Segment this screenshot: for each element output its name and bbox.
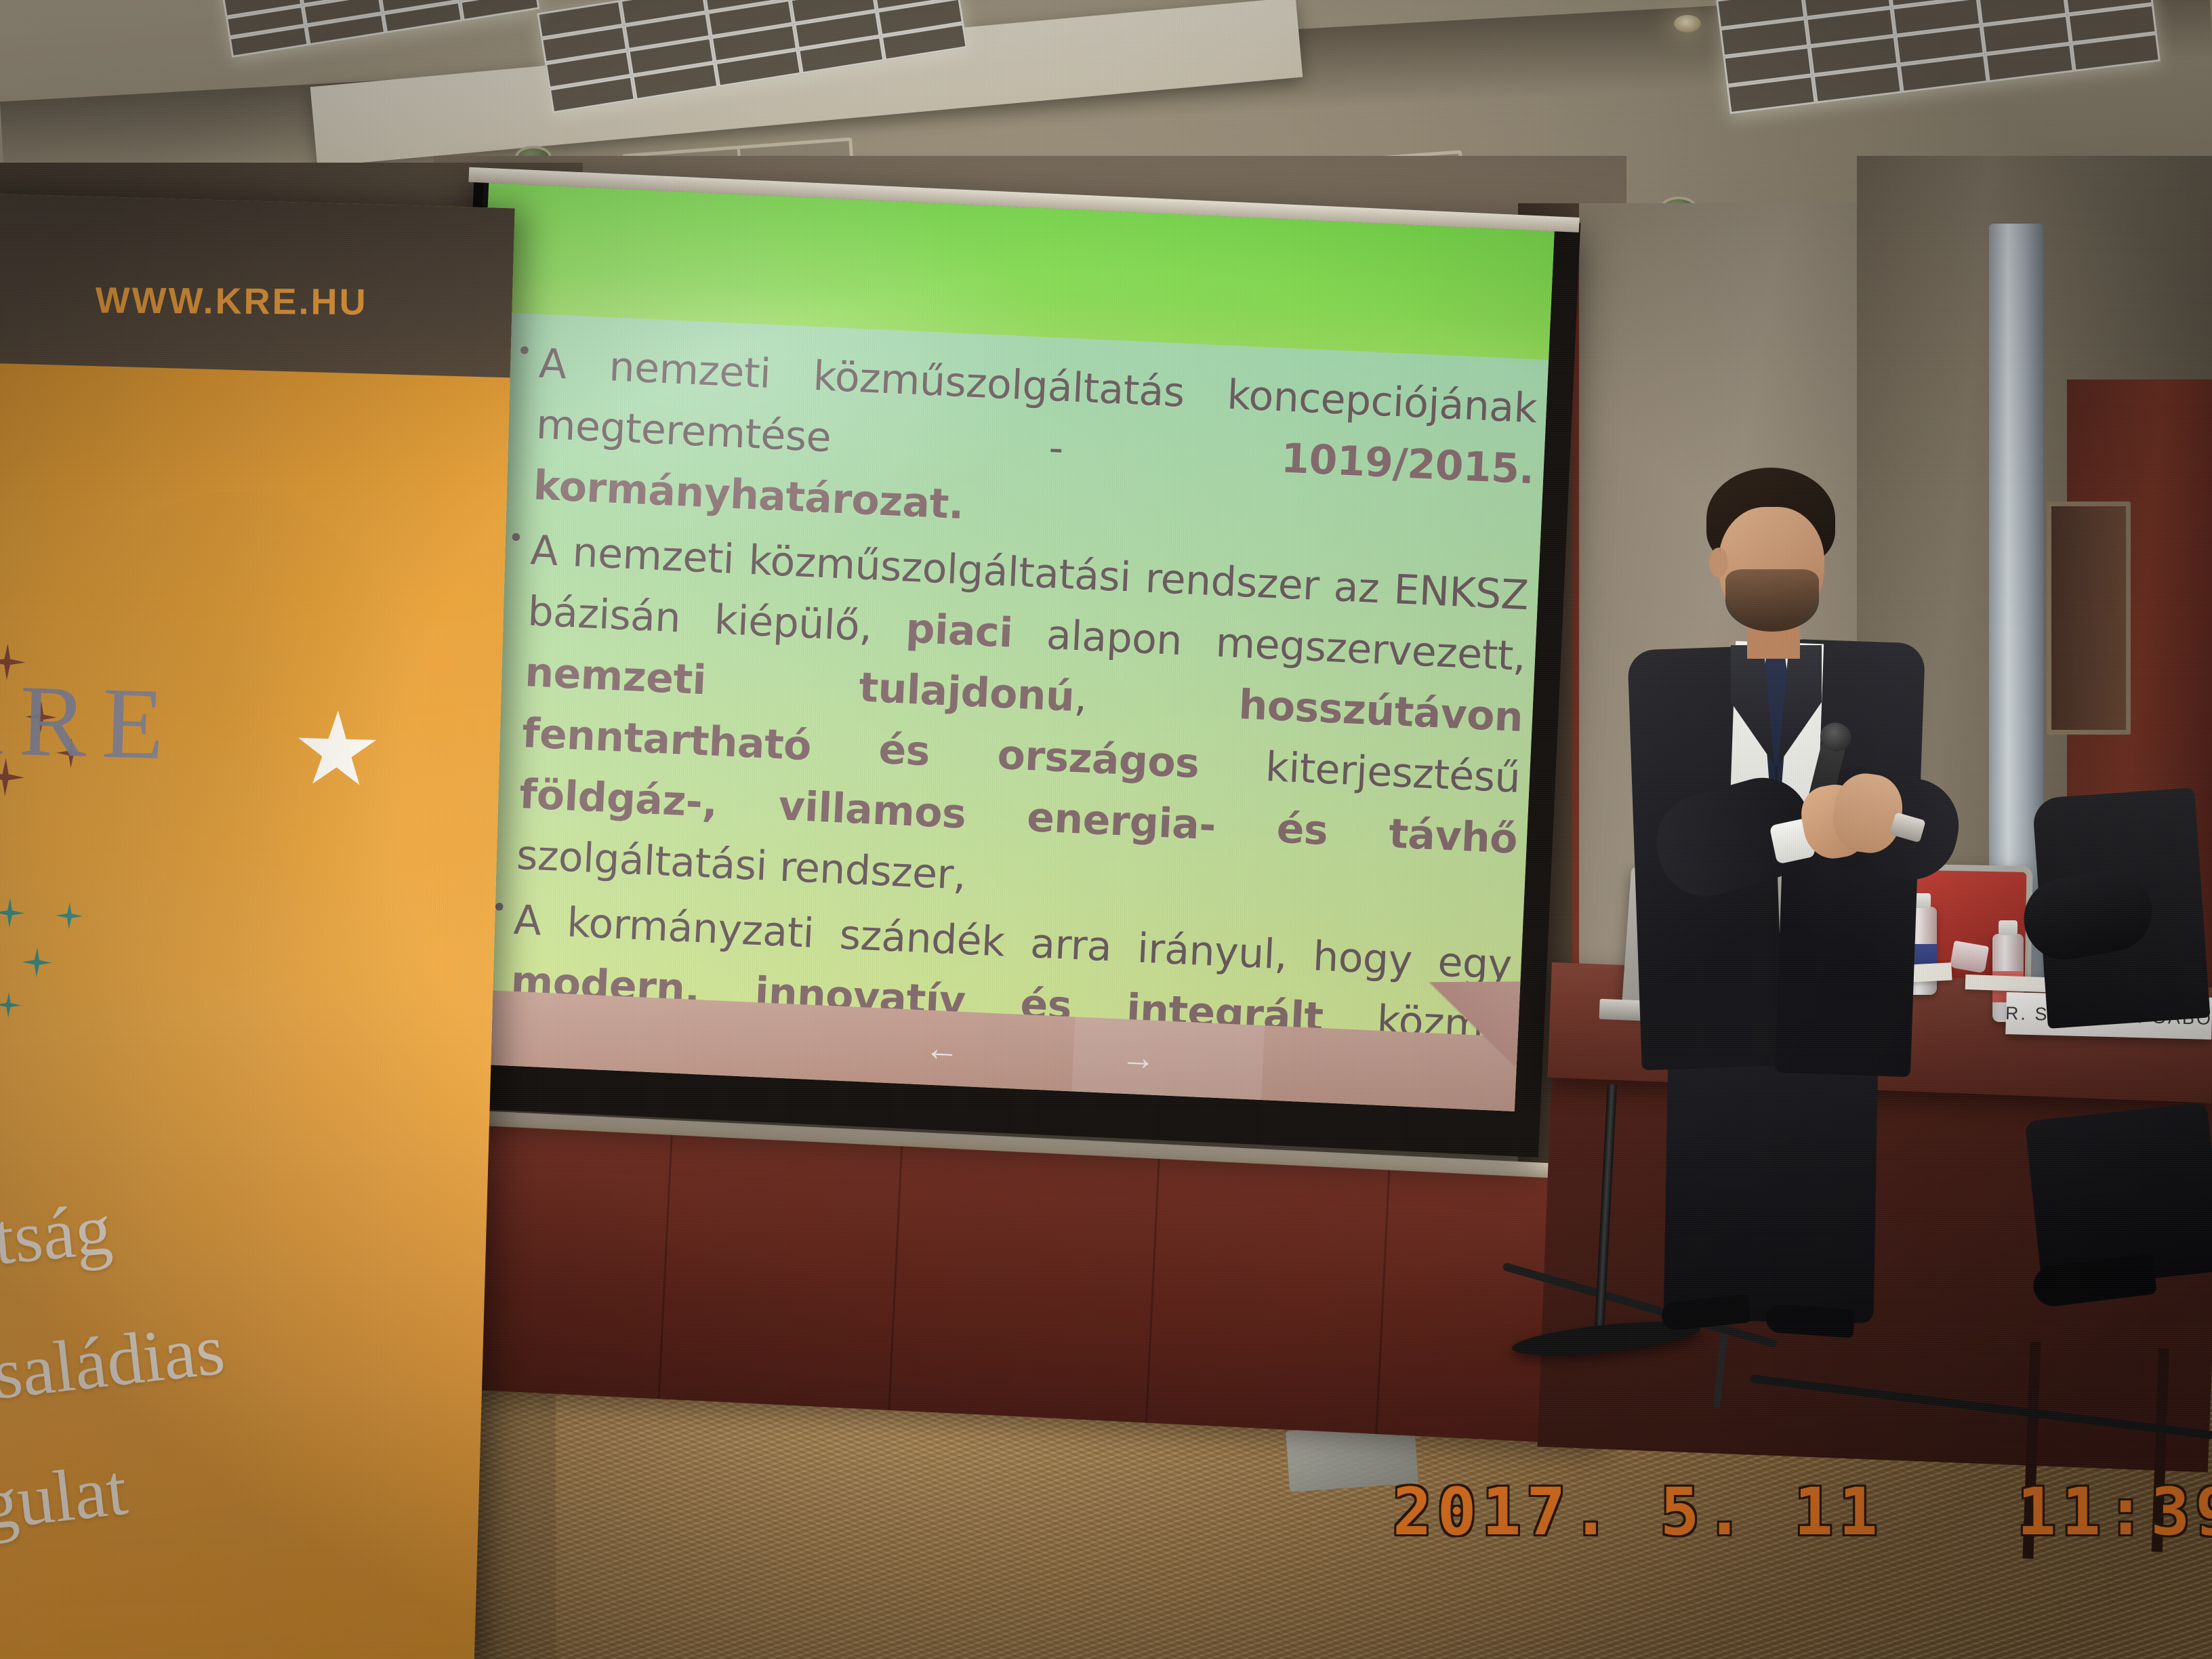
banner-line-2: családias — [0, 1307, 228, 1420]
presenter-shoe — [1765, 1304, 1856, 1338]
kre-rollup-banner: WWW.KRE.HU KRE itottság családias hangul… — [0, 193, 515, 1659]
bottle-cap — [1999, 920, 2018, 935]
presenter-legs — [1664, 1048, 1879, 1323]
slide-text-bold: piaci — [905, 605, 1014, 657]
seated-panelist — [2040, 793, 2212, 1308]
projection-screen: A nemzeti közműszolgáltatás koncepcióján… — [431, 173, 1585, 1185]
slide-text-block: A nemzeti közműszolgáltatás koncepcióján… — [473, 332, 1538, 1111]
slide-text-normal: alapon megszervezett, — [1012, 610, 1527, 680]
next-slide-arrow-icon[interactable]: → — [1120, 1040, 1157, 1076]
slide-surface: A nemzeti közműszolgáltatás koncepcióján… — [449, 183, 1554, 1111]
slide-text-normal: kiterjesztésű — [1198, 740, 1521, 802]
door-frame — [2047, 501, 2131, 735]
ceiling-spotlight-icon — [1674, 15, 1701, 33]
prev-slide-arrow-icon[interactable]: ← — [924, 1030, 960, 1067]
slide-text-bold: nemzeti tulajdonú — [524, 649, 1076, 721]
presenter-person — [1586, 468, 1952, 1301]
presenter-beard — [1725, 569, 1819, 632]
conference-room-photo: A nemzeti közműszolgáltatás koncepcióján… — [0, 0, 2212, 1659]
banner-website-url: WWW.KRE.HU — [95, 279, 367, 323]
slide-text-normal: , — [1073, 674, 1240, 729]
camera-timestamp: 2017. 5. 11 11:39 — [1393, 1474, 2212, 1550]
slide-footer-highlight — [1071, 1017, 1265, 1100]
slide-text-normal: szolgáltatási rendszer, — [516, 832, 967, 899]
slide-bullet-list: A nemzeti közműszolgáltatás koncepcióján… — [473, 332, 1538, 1111]
banner-acronym: KRE — [0, 660, 181, 783]
banner-line-3: hangulat — [0, 1448, 131, 1560]
banner-line-1: itottság — [0, 1187, 115, 1291]
slide-bullet: A nemzeti közműszolgáltatási rendszer az… — [515, 520, 1530, 930]
presenter-ear — [1709, 548, 1728, 577]
paper-sheet — [1965, 975, 2047, 992]
